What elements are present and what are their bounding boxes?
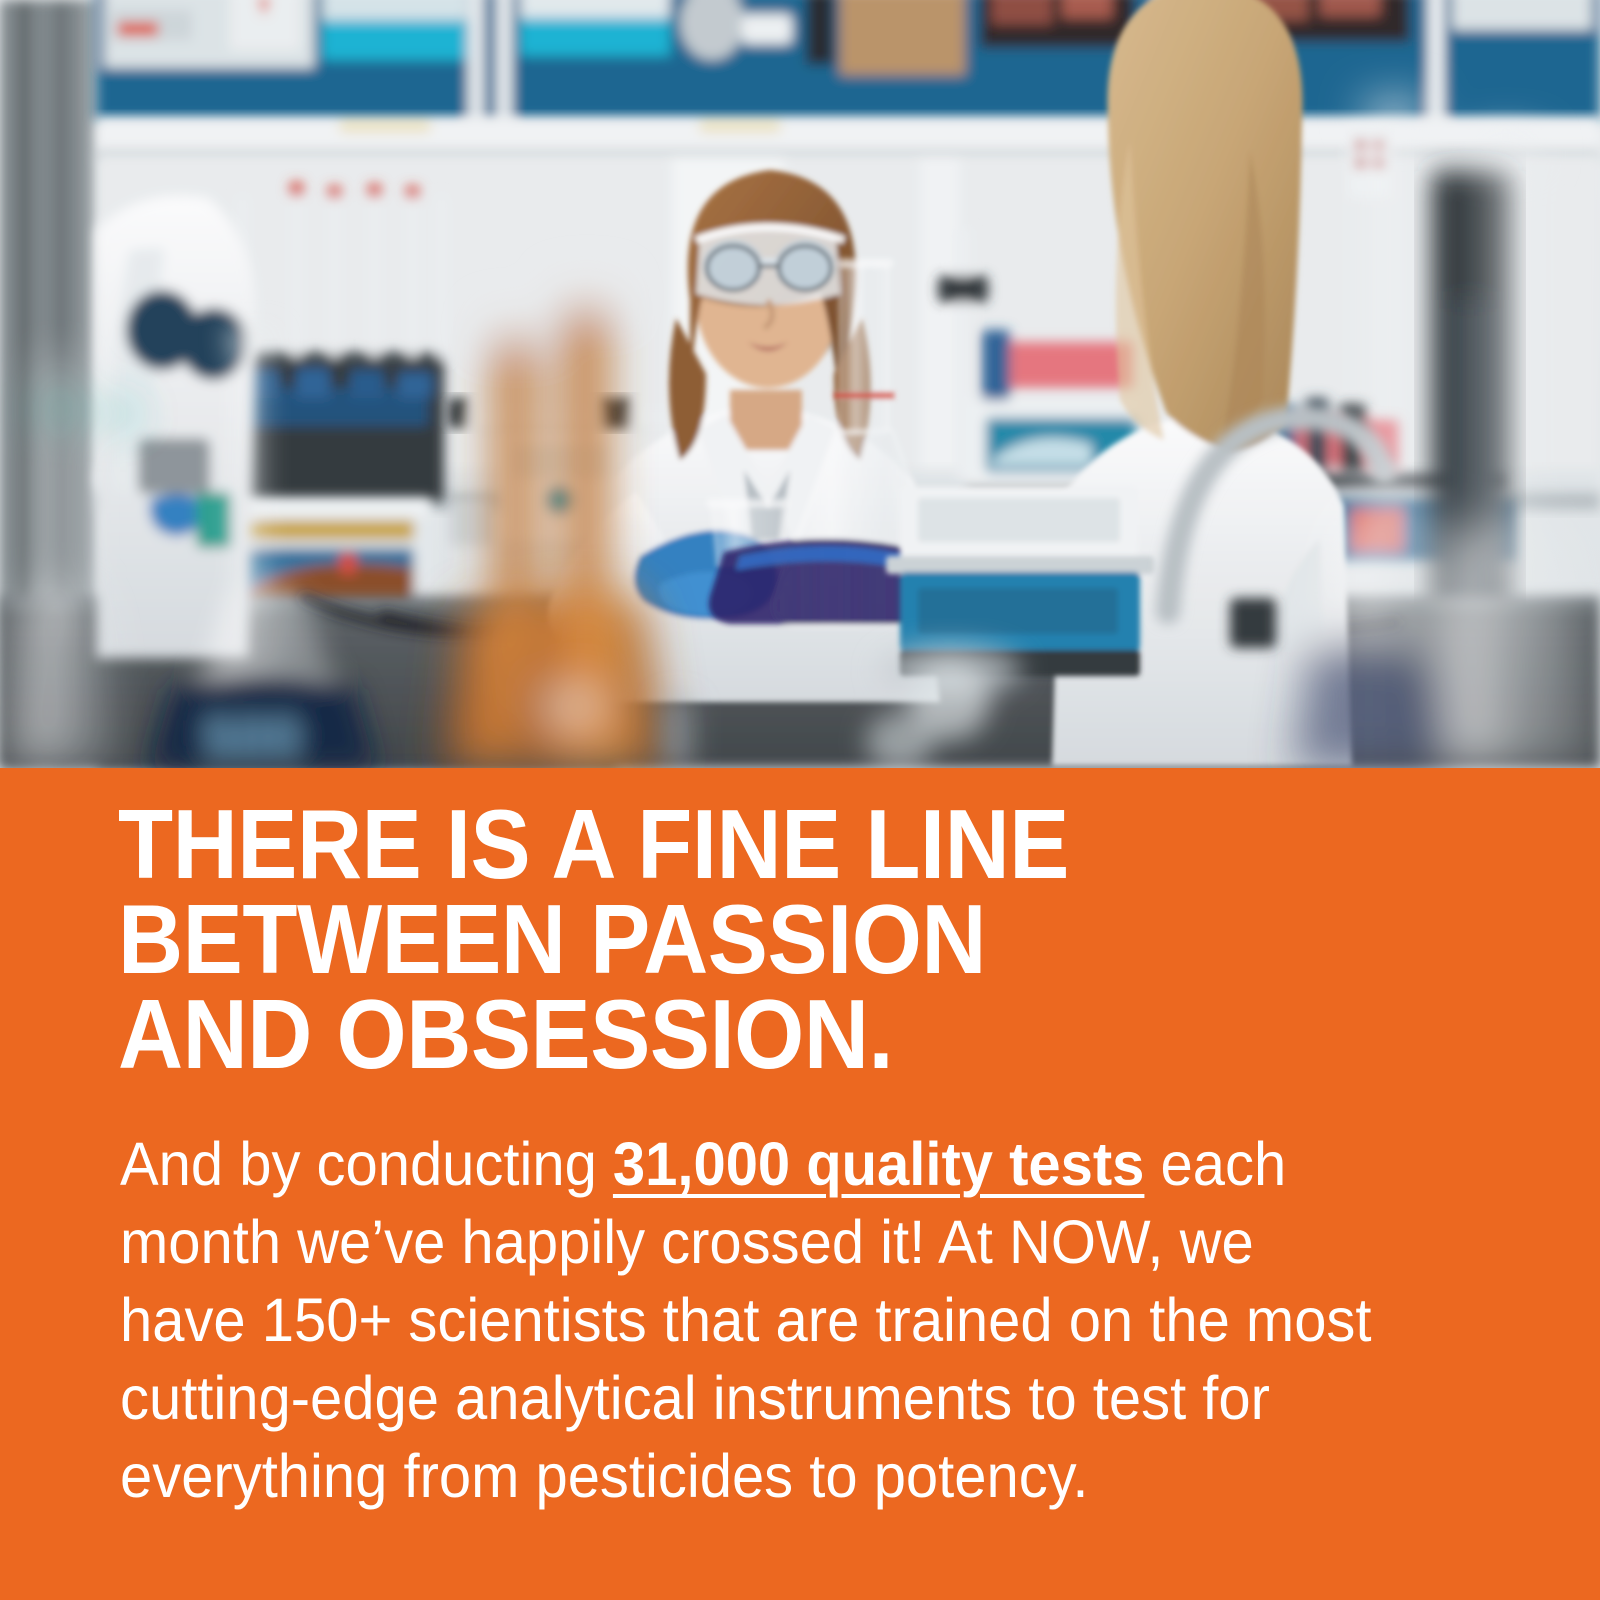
promo-card: 500 xyxy=(0,0,1600,1600)
body-copy: And by conducting 31,000 quality tests e… xyxy=(120,1125,1384,1515)
page-title: THERE IS A FINE LINE BETWEEN PASSION AND… xyxy=(118,797,1351,1082)
stat-highlight: 31,000 quality tests xyxy=(613,1130,1144,1198)
body-text-before: And by conducting xyxy=(120,1130,613,1198)
lab-photo-illustration: 500 xyxy=(0,0,1600,768)
lab-photo: 500 xyxy=(0,0,1600,768)
